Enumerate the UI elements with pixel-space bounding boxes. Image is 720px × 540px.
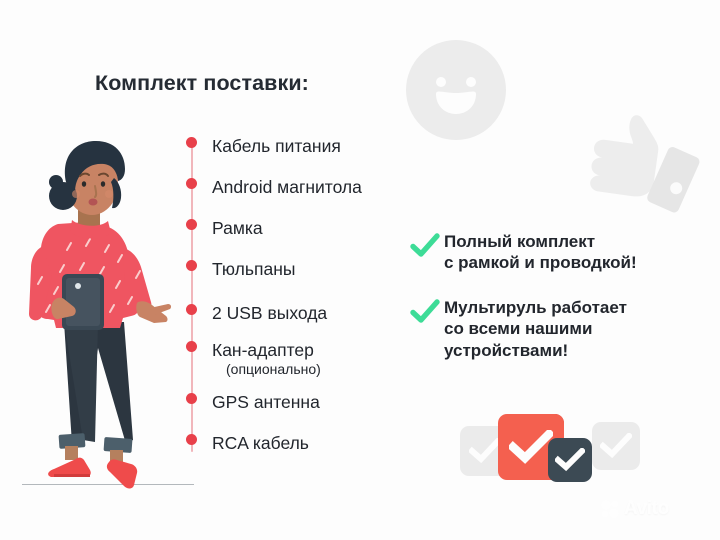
bullet-dot-icon <box>186 260 197 271</box>
smiley-face-icon <box>400 34 512 146</box>
benefit-item: Полный комплект с рамкой и проводкой! <box>410 231 637 274</box>
list-item: Кан-адаптер(опционально) <box>180 341 321 377</box>
bullet-dot-icon <box>186 341 197 352</box>
list-item: GPS антенна <box>180 393 320 413</box>
list-item-text: Тюльпаны <box>212 260 295 280</box>
checkbox-cards-icon <box>460 412 640 482</box>
checkbox-card-navy <box>548 438 592 482</box>
benefit-item: Мультируль работает со всеми нашими устр… <box>410 297 627 361</box>
list-item-text: Android магнитола <box>212 178 362 198</box>
list-item-label: Тюльпаны <box>212 260 295 280</box>
avito-watermark: Avito <box>600 498 669 520</box>
list-item-text: 2 USB выхода <box>212 304 327 324</box>
list-item-text: Кан-адаптер(опционально) <box>212 341 321 377</box>
list-item: 2 USB выхода <box>180 304 327 324</box>
list-item-text: GPS антенна <box>212 393 320 413</box>
list-item: RCA кабель <box>180 434 309 454</box>
bullet-dot-icon <box>186 219 197 230</box>
page-title: Комплект поставки: <box>95 71 309 96</box>
list-item-text: Кабель питания <box>212 137 341 157</box>
green-check-icon <box>410 233 440 259</box>
check-icon <box>555 448 585 472</box>
benefit-label: Мультируль работает со всеми нашими устр… <box>444 297 627 361</box>
list-item-sublabel: (опционально) <box>226 362 321 378</box>
bullet-dot-icon <box>186 393 197 404</box>
list-item: Рамка <box>180 219 263 239</box>
benefit-label: Полный комплект с рамкой и проводкой! <box>444 231 637 274</box>
check-icon <box>600 433 632 459</box>
list-item-label: Кан-адаптер <box>212 341 321 361</box>
bullet-dot-icon <box>186 434 197 445</box>
list-item: Тюльпаны <box>180 260 295 280</box>
check-icon <box>509 430 553 464</box>
poster-canvas: Комплект поставки: Кабель питанияAndroid… <box>0 0 720 540</box>
woman-pointing-with-tablet-illustration <box>10 112 180 492</box>
checkbox-card-gray-right <box>592 422 640 470</box>
bullet-dot-icon <box>186 137 197 148</box>
list-item-label: Рамка <box>212 219 263 239</box>
check-icon <box>469 438 501 464</box>
avito-watermark-text: Avito <box>624 498 669 520</box>
list-item: Android магнитола <box>180 178 362 198</box>
list-item-label: 2 USB выхода <box>212 304 327 324</box>
thumbs-up-icon <box>562 104 704 226</box>
list-item: Кабель питания <box>180 137 341 157</box>
avito-dots-logo-icon <box>600 499 620 519</box>
bullet-dot-icon <box>186 304 197 315</box>
list-item-text: Рамка <box>212 219 263 239</box>
list-item-label: RCA кабель <box>212 434 309 454</box>
list-item-text: RCA кабель <box>212 434 309 454</box>
green-check-icon <box>410 299 440 325</box>
list-item-label: Кабель питания <box>212 137 341 157</box>
list-item-label: GPS антенна <box>212 393 320 413</box>
list-item-label: Android магнитола <box>212 178 362 198</box>
bullet-dot-icon <box>186 178 197 189</box>
